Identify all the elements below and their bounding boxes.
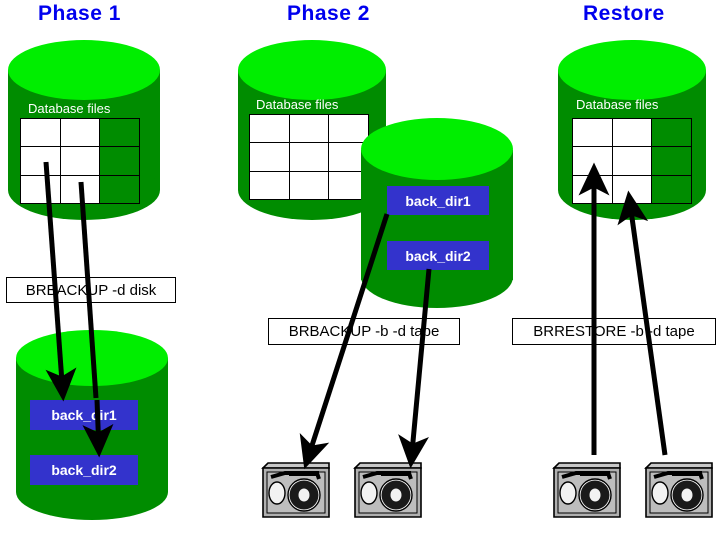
tape-cartridge-2 xyxy=(351,455,425,521)
cylinder-top xyxy=(238,40,386,100)
database-grid-cell xyxy=(21,119,61,147)
phase2-title: Phase 2 xyxy=(287,2,370,26)
database-grid-cell xyxy=(613,119,653,147)
phase1-database-files-label: Database files xyxy=(28,101,110,116)
database-grid-cell xyxy=(100,176,140,204)
restore-database-grid xyxy=(572,118,692,204)
cylinder-top xyxy=(558,40,706,100)
diagram-canvas: Phase 1 Database files back_dir1 back_di… xyxy=(0,0,720,540)
restore-title: Restore xyxy=(583,2,665,26)
database-grid-cell xyxy=(250,143,290,171)
database-grid-cell xyxy=(100,119,140,147)
database-grid-cell xyxy=(613,147,653,175)
database-grid-cell xyxy=(61,176,101,204)
database-grid-cell xyxy=(21,176,61,204)
database-grid-cell xyxy=(61,119,101,147)
database-grid-cell xyxy=(573,147,613,175)
phase1-back-dir1-box: back_dir1 xyxy=(30,400,138,430)
database-grid-cell xyxy=(100,147,140,175)
database-grid-cell xyxy=(290,115,330,143)
tape-cartridge-3 xyxy=(550,455,624,521)
restore-database-files-label: Database files xyxy=(576,97,658,112)
database-grid-cell xyxy=(61,147,101,175)
database-grid-cell xyxy=(290,172,330,200)
cylinder-top xyxy=(16,330,168,386)
phase2-back-dir1-box: back_dir1 xyxy=(387,186,489,215)
database-grid-cell xyxy=(573,176,613,204)
database-grid-cell xyxy=(21,147,61,175)
tape-cartridge-4 xyxy=(642,455,716,521)
phase2-database-grid xyxy=(249,114,369,200)
database-grid-cell xyxy=(652,176,692,204)
database-grid-cell xyxy=(652,147,692,175)
cylinder-top xyxy=(8,40,160,100)
phase1-back-dir2-box: back_dir2 xyxy=(30,455,138,485)
brbackup-tape-label: BRBACKUP -b -d tape xyxy=(268,318,460,345)
database-grid-cell xyxy=(613,176,653,204)
database-grid-cell xyxy=(250,172,290,200)
database-grid-cell xyxy=(250,115,290,143)
phase2-back-dir2-box: back_dir2 xyxy=(387,241,489,270)
tape-cartridge-1 xyxy=(259,455,333,521)
database-grid-cell xyxy=(573,119,613,147)
phase1-database-grid xyxy=(20,118,140,204)
phase2-database-files-label: Database files xyxy=(256,97,338,112)
brrestore-tape-label: BRRESTORE -b -d tape xyxy=(512,318,716,345)
database-grid-cell xyxy=(290,143,330,171)
cylinder-top xyxy=(361,118,513,180)
brbackup-disk-label: BRBACKUP -d disk xyxy=(6,277,176,303)
database-grid-cell xyxy=(652,119,692,147)
phase1-title: Phase 1 xyxy=(38,2,121,26)
